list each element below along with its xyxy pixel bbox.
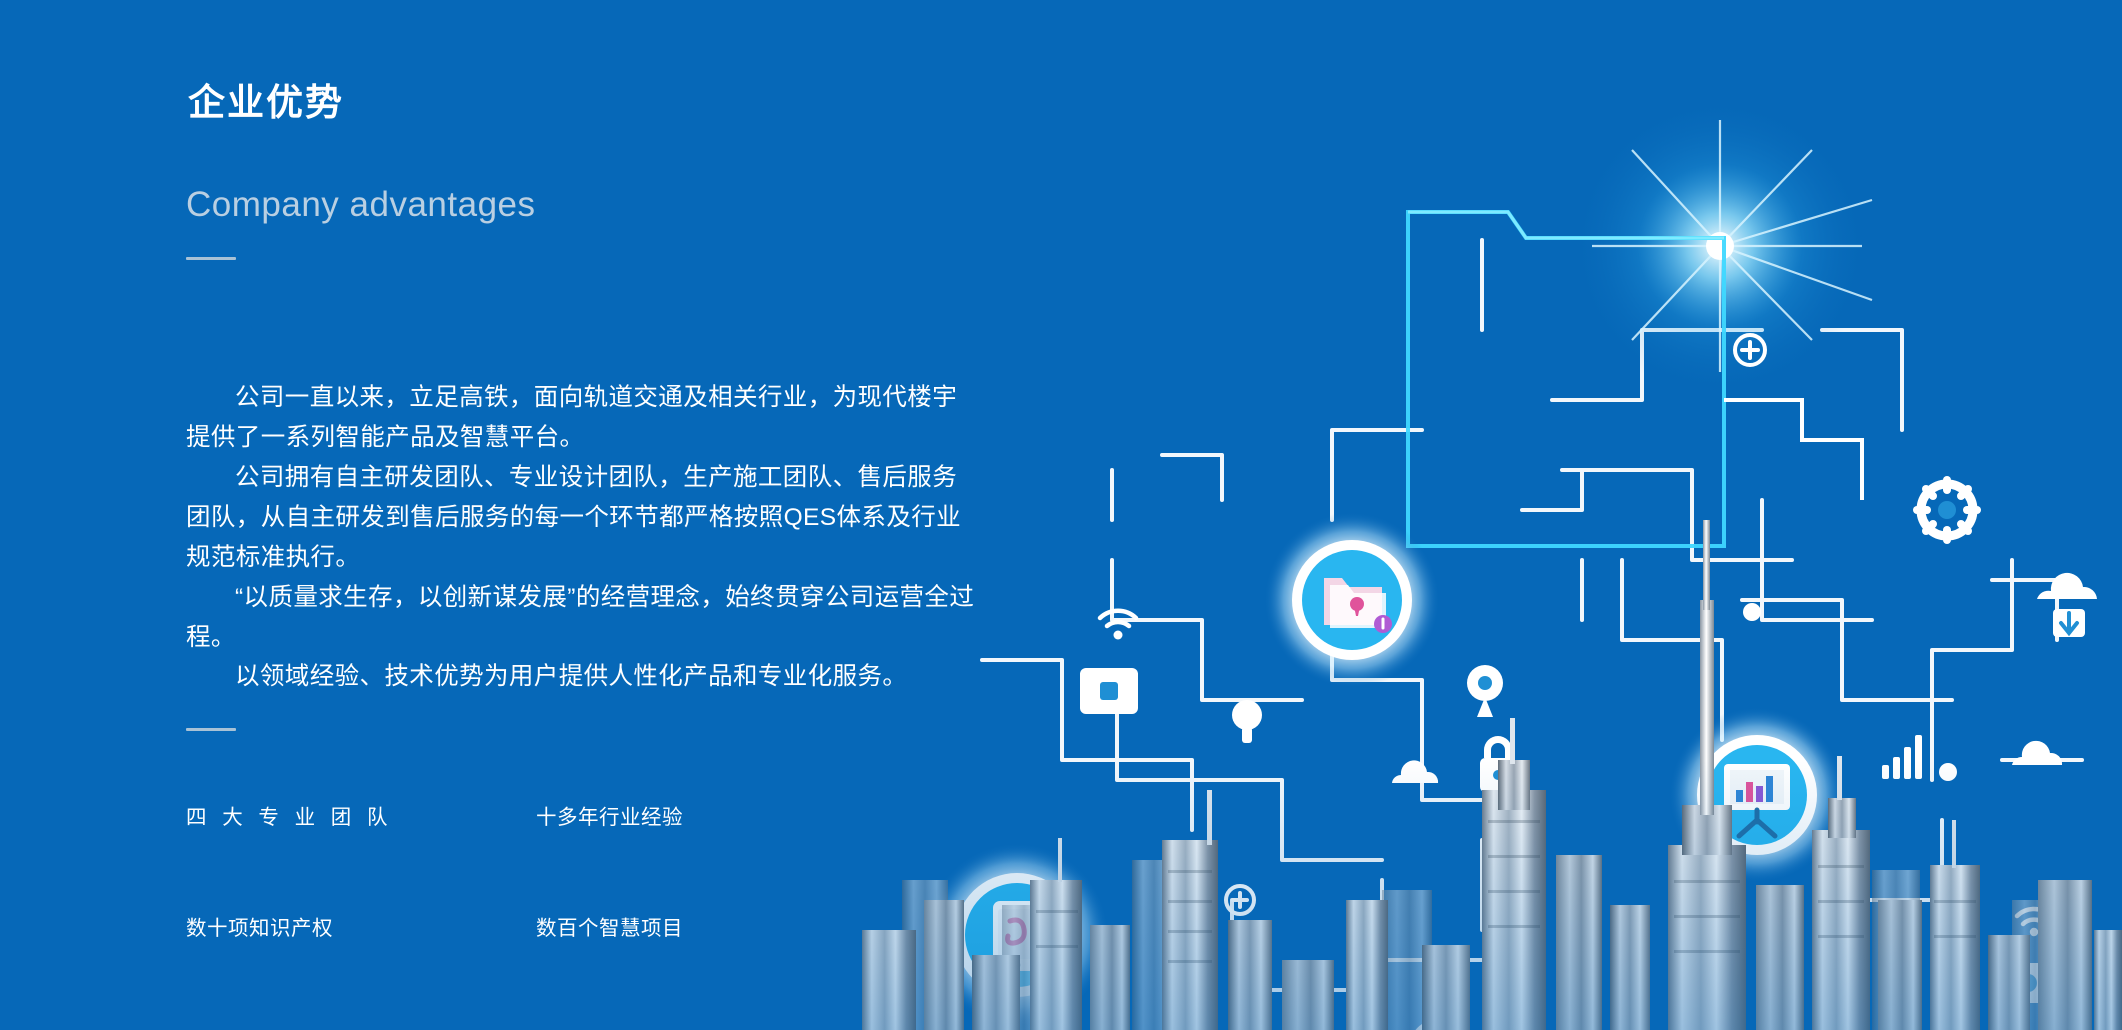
illustration-svg (862, 0, 2122, 1030)
callout-frame (1408, 212, 1862, 546)
junction-dot (1743, 603, 1761, 621)
circuit-lines (982, 240, 2082, 990)
lightbulb-icon (1232, 700, 1262, 743)
cloud-icon (2012, 741, 2062, 765)
page-title: 企业优势 (188, 80, 344, 126)
map-pin-icon (1467, 665, 1503, 717)
stats-row: 四 大 专 业 团 队 十多年行业经验 (186, 800, 886, 830)
camera-icon (2002, 963, 2054, 1003)
city-skyline-silhouette (862, 520, 2122, 1030)
stat-item: 数十项知识产权 (186, 911, 536, 941)
paragraph-4: 以领域经验、技术优势为用户提供人性化产品和专业化服务。 (186, 657, 976, 697)
plus-node-icon (1735, 335, 1765, 365)
divider-middle (186, 728, 236, 731)
wifi-icon (2017, 909, 2051, 936)
smart-city-illustration: 我们的优势 OUR ADVANTAGES (862, 0, 2122, 1030)
stats-row: 数十项知识产权 数百个智慧项目 (186, 911, 886, 941)
bar-chart-board-icon (1724, 764, 1790, 836)
person-icon (1759, 985, 1783, 1030)
paragraph-2: 公司拥有自主研发团队、专业设计团队，生产施工团队、售后服务团队，从自主研发到售后… (186, 458, 976, 578)
analytics-board-node (1669, 707, 1845, 883)
folder-lock-icon (1324, 578, 1392, 633)
cloud-upload-icon (2037, 573, 2097, 637)
lightbulb-icon (1184, 975, 1218, 1023)
lock-icon (1080, 668, 1138, 714)
stat-item: 数百个智慧项目 (536, 911, 886, 941)
secure-folder-node (1264, 512, 1440, 688)
small-icon-cluster (962, 335, 2122, 1030)
slide-canvas: 企业优势 Company advantages 公司一直以来，立足高铁，面向轨道… (0, 0, 2122, 1030)
signal-bars-icon (1882, 735, 1922, 779)
smartphone-phone-icon (993, 901, 1041, 971)
gear-icon (1410, 1020, 1462, 1030)
gear-icon (1917, 480, 1977, 540)
divider-top (186, 257, 236, 260)
paragraph-3: “以质量求生存，以创新谋发展”的经营理念，始终贯穿公司运营全过程。 (186, 578, 976, 658)
left-content-column: 企业优势 Company advantages 公司一直以来，立足高铁，面向轨道… (0, 0, 1000, 1030)
stats-grid: 四 大 专 业 团 队 十多年行业经验 数十项知识产权 数百个智慧项目 (186, 800, 886, 941)
stat-item: 四 大 专 业 团 队 (186, 800, 536, 830)
plus-node-icon (1226, 886, 1254, 914)
lock-icon (1480, 736, 1516, 792)
body-copy: 公司一直以来，立足高铁，面向轨道交通及相关行业，为现代楼宇提供了一系列智能产品及… (186, 378, 976, 697)
junction-dot (1939, 763, 1957, 781)
page-subtitle: Company advantages (186, 184, 536, 226)
paragraph-1: 公司一直以来，立足高铁，面向轨道交通及相关行业，为现代楼宇提供了一系列智能产品及… (186, 378, 976, 458)
stat-item: 十多年行业经验 (536, 800, 886, 830)
cloud-icon (1392, 760, 1438, 783)
wifi-icon (1100, 611, 1136, 640)
light-burst (1570, 96, 1872, 396)
